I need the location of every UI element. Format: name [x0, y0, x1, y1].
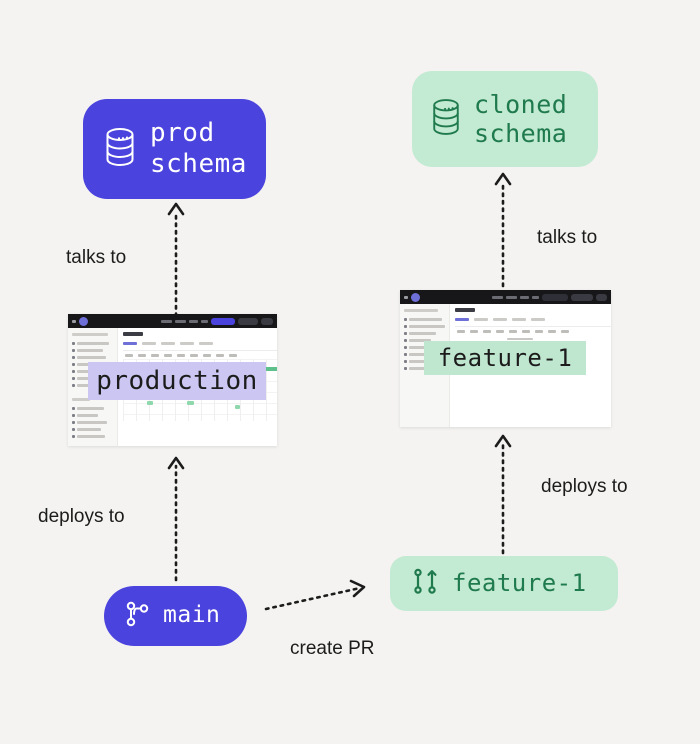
topbar-nav-item: [506, 296, 517, 299]
topbar-nav-item: [189, 320, 198, 323]
panel-title-bar: [455, 308, 475, 312]
arrow-deploys-to-left: [160, 452, 192, 582]
edge-label-talks-to-left: talks to: [66, 247, 126, 269]
chip-feature-label: feature-1: [424, 341, 586, 375]
node-feature-pr-label: feature-1: [452, 569, 587, 597]
edge-label-deploys-to-right: deploys to: [541, 476, 628, 498]
chip-production-label: production: [88, 362, 266, 400]
panel-tab: [455, 318, 469, 321]
database-icon: [103, 126, 137, 172]
hamburger-icon: [404, 296, 408, 299]
hamburger-icon: [72, 320, 76, 323]
git-branch-icon: [125, 600, 151, 632]
node-cloned-schema-label: cloned schema: [474, 90, 567, 149]
app-logo-icon: [79, 317, 88, 326]
panel-tabs: [123, 342, 277, 345]
arrow-create-pr: [262, 578, 378, 614]
sidebar-item: [72, 414, 113, 417]
panel-title-bar: [123, 332, 143, 336]
topbar-env-pill: [211, 318, 235, 325]
diagram-canvas: prod schema cloned schema: [0, 0, 700, 744]
panel-tab: [161, 342, 175, 345]
sidebar-item: [404, 332, 445, 335]
panel-tab: [493, 318, 507, 321]
node-prod-schema-label: prod schema: [150, 118, 247, 179]
thumbnail-topbar: [68, 314, 277, 328]
panel-tab: [142, 342, 156, 345]
topbar-nav-item: [520, 296, 529, 299]
panel-tab: [531, 318, 545, 321]
arrow-deploys-to-right: [487, 430, 519, 555]
node-prod-schema[interactable]: prod schema: [83, 99, 266, 199]
sidebar-header-bar: [404, 309, 438, 312]
sidebar-item: [72, 342, 113, 345]
edge-label-talks-to-right: talks to: [537, 227, 597, 249]
panel-tab: [199, 342, 213, 345]
sidebar-item: [72, 407, 113, 410]
sidebar-item: [72, 356, 113, 359]
topbar-user-pill: [571, 294, 593, 301]
panel-tab: [180, 342, 194, 345]
node-feature-pr[interactable]: feature-1: [390, 556, 618, 611]
sidebar-item: [404, 325, 445, 328]
panel-tab: [474, 318, 488, 321]
sidebar-item: [72, 421, 113, 424]
panel-tab: [123, 342, 137, 345]
thumbnail-topbar: [400, 290, 611, 304]
sidebar-item: [72, 435, 113, 438]
app-logo-icon: [411, 293, 420, 302]
topbar-action-pill: [596, 294, 607, 301]
sidebar-item: [72, 349, 113, 352]
panel-tab: [512, 318, 526, 321]
topbar-user-pill: [238, 318, 258, 325]
node-main-branch-label: main: [163, 602, 220, 629]
database-icon: [430, 97, 462, 141]
sidebar-item: [404, 318, 445, 321]
pull-request-icon: [412, 567, 439, 600]
topbar-env-pill: [542, 294, 568, 301]
node-main-branch[interactable]: main: [104, 586, 247, 646]
edge-label-deploys-to-left: deploys to: [38, 506, 125, 528]
panel-tabs: [455, 318, 611, 321]
topbar-nav-item: [201, 320, 208, 323]
topbar-nav-item: [532, 296, 539, 299]
chart-axis-ticks: [455, 327, 611, 335]
topbar-nav-item: [161, 320, 172, 323]
arrow-talks-to-right: [487, 168, 519, 288]
sidebar-item: [72, 428, 113, 431]
topbar-action-pill: [261, 318, 273, 325]
edge-label-create-pr: create PR: [290, 638, 374, 660]
arrow-talks-to-left: [160, 198, 192, 318]
node-cloned-schema[interactable]: cloned schema: [412, 71, 598, 167]
topbar-nav-item: [492, 296, 503, 299]
chart-axis-ticks: [123, 351, 277, 359]
sidebar-header-bar: [72, 333, 108, 336]
topbar-nav-item: [175, 320, 186, 323]
